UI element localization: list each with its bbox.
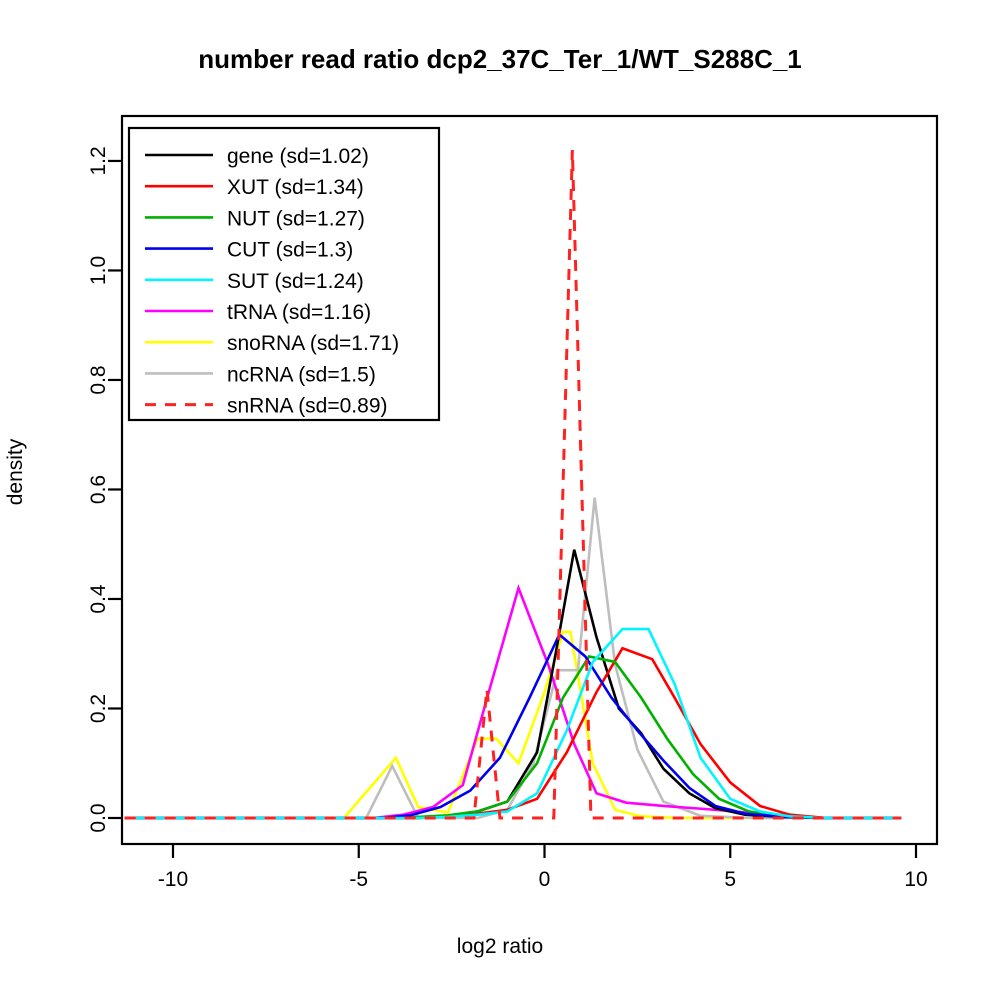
legend-label-8: snRNA (sd=0.89) <box>227 395 388 418</box>
legend-label-3: CUT (sd=1.3) <box>227 239 353 262</box>
legend: gene (sd=1.02)XUT (sd=1.34)NUT (sd=1.27)… <box>0 0 1000 1000</box>
legend-label-7: ncRNA (sd=1.5) <box>227 363 376 386</box>
legend-label-6: snoRNA (sd=1.71) <box>227 332 399 355</box>
legend-label-1: XUT (sd=1.34) <box>227 176 364 199</box>
density-plot-figure: number read ratio dcp2_37C_Ter_1/WT_S288… <box>0 0 1000 1000</box>
legend-label-4: SUT (sd=1.24) <box>227 270 364 293</box>
legend-label-0: gene (sd=1.02) <box>227 145 369 168</box>
legend-label-2: NUT (sd=1.27) <box>227 207 365 230</box>
legend-label-5: tRNA (sd=1.16) <box>227 301 371 324</box>
